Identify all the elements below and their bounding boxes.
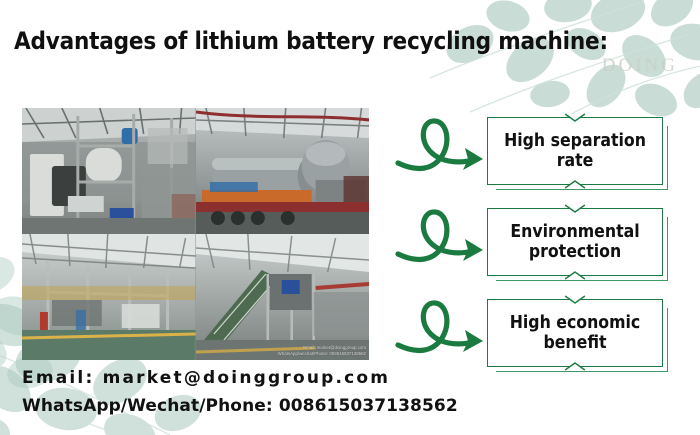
box-notch-bottom xyxy=(488,272,662,279)
photo-collage: Email: market@doinggroup.com WhatsApp/we… xyxy=(22,108,369,360)
box-notch-top xyxy=(488,296,662,303)
photo-watermark-line2: WhatsApp/wechat/Phone: 008615037138562 xyxy=(278,351,366,357)
photo-production-line xyxy=(22,234,196,360)
advantage-label-2: Environmental protection xyxy=(488,222,662,262)
brand-watermark: DOING xyxy=(602,55,678,77)
box-notch-top xyxy=(488,205,662,212)
advantage-label-1: High separation rate xyxy=(488,131,662,171)
box-notch-bottom xyxy=(488,181,662,188)
contact-phone: WhatsApp/Wechat/Phone: 008615037138562 xyxy=(22,396,458,416)
advantage-row-2: Environmental protection xyxy=(395,203,663,281)
box-notch-bottom xyxy=(488,363,662,370)
contact-block: Email: market@doinggroup.com WhatsApp/We… xyxy=(22,368,458,416)
curly-arrow-icon xyxy=(395,294,490,372)
advantage-label-3: High economic benefit xyxy=(488,313,662,353)
photo-rotary-machine-truck xyxy=(196,108,370,234)
advantage-row-3: High economic benefit xyxy=(395,294,663,372)
curly-arrow-icon xyxy=(395,112,490,190)
curly-arrow-icon xyxy=(395,203,490,281)
contact-email: Email: market@doinggroup.com xyxy=(22,368,458,388)
advantage-row-1: High separation rate xyxy=(395,112,663,190)
advantage-box-1[interactable]: High separation rate xyxy=(487,117,663,185)
slide-title: Advantages of lithium battery recycling … xyxy=(14,27,608,55)
photo-watermark: Email: market@doinggroup.com WhatsApp/we… xyxy=(278,345,366,357)
photo-conveyor-sorting: Email: market@doinggroup.com WhatsApp/we… xyxy=(196,234,370,360)
advantage-box-3[interactable]: High economic benefit xyxy=(487,299,663,367)
slide-canvas: Advantages of lithium battery recycling … xyxy=(0,0,700,435)
photo-recycling-plant xyxy=(22,108,196,234)
box-notch-top xyxy=(488,114,662,121)
advantage-box-2[interactable]: Environmental protection xyxy=(487,208,663,276)
